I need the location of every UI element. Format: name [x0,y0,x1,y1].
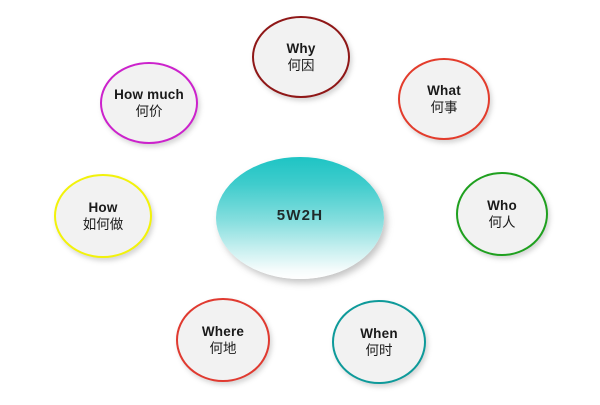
5w2h-diagram: 5W2H Why 何因 What 何事 How much 何价 How 如何做 … [0,0,600,405]
center-node-5w2h[interactable]: 5W2H [216,157,384,279]
node-label-en: Why [286,41,315,56]
node-label-en: What [427,83,461,98]
node-who[interactable]: Who 何人 [456,172,548,256]
node-why[interactable]: Why 何因 [252,16,350,98]
node-label-en: How [88,200,117,215]
node-label-zh: 何价 [136,104,163,119]
node-label-zh: 如何做 [83,217,124,232]
node-label-en: Who [487,198,517,213]
node-label-zh: 何时 [366,343,393,358]
node-how-much[interactable]: How much 何价 [100,62,198,144]
node-how[interactable]: How 如何做 [54,174,152,258]
node-label-zh: 何因 [288,58,315,73]
node-label-zh: 何人 [489,215,516,230]
node-what[interactable]: What 何事 [398,58,490,140]
node-where[interactable]: Where 何地 [176,298,270,382]
node-label-en: How much [114,87,184,102]
node-label-zh: 何地 [210,341,237,356]
node-label-en: When [360,326,398,341]
node-when[interactable]: When 何时 [332,300,426,384]
center-node-label: 5W2H [277,207,323,224]
node-label-zh: 何事 [431,100,458,115]
node-label-en: Where [202,324,244,339]
